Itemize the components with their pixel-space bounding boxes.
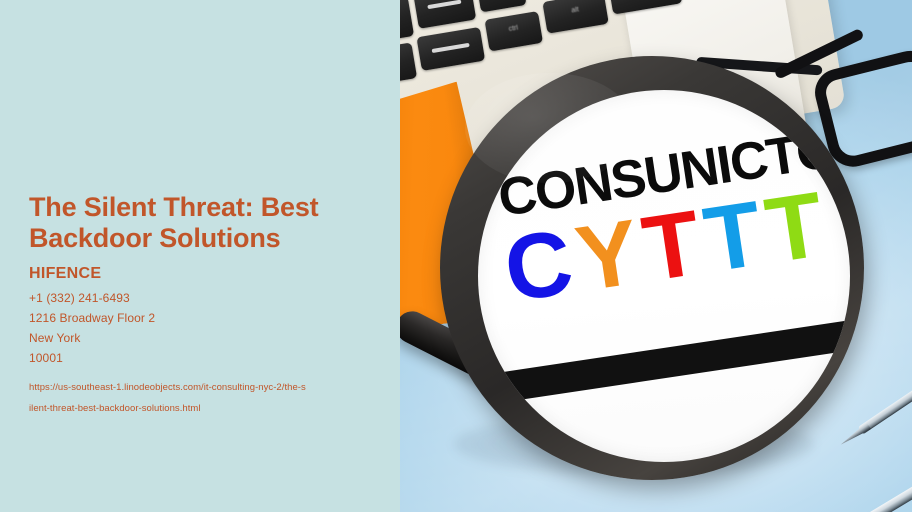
page-root: The Silent Threat: Best Backdoor Solutio… xyxy=(0,0,912,512)
company-name: HIFENCE xyxy=(29,264,374,284)
address-zip: 10001 xyxy=(29,348,374,368)
article-info-panel: The Silent Threat: Best Backdoor Solutio… xyxy=(0,0,400,512)
keyboard-key xyxy=(413,0,476,29)
magnifying-glass-icon: CONSUNICTON CYTTT xyxy=(428,48,896,512)
article-url-line-2[interactable]: ilent-threat-best-backdoor-solutions.htm… xyxy=(29,398,374,419)
magnifier-ring: CONSUNICTON CYTTT xyxy=(440,56,864,480)
text-block: The Silent Threat: Best Backdoor Solutio… xyxy=(29,192,374,419)
address-street: 1216 Broadway Floor 2 xyxy=(29,308,374,328)
lens-black-bar xyxy=(478,311,850,412)
keyboard-key: ctrl xyxy=(485,11,544,51)
keyboard-key xyxy=(400,42,417,85)
address-city: New York xyxy=(29,328,374,348)
article-url[interactable]: https://us-southeast-1.linodeobjects.com… xyxy=(29,377,374,419)
keyboard-key xyxy=(608,0,682,15)
lens-letter: C xyxy=(499,213,585,319)
keyboard-key xyxy=(400,0,414,45)
lens-letter: T xyxy=(760,175,836,279)
article-url-line-1[interactable]: https://us-southeast-1.linodeobjects.com… xyxy=(29,377,374,398)
keyboard-key: alt xyxy=(542,0,608,34)
lens-content: CONSUNICTON CYTTT xyxy=(478,114,850,325)
phone-number[interactable]: +1 (332) 241-6493 xyxy=(29,288,374,308)
keyboard-key xyxy=(475,0,527,12)
magnifier-lens: CONSUNICTON CYTTT xyxy=(478,90,850,462)
hero-photo: esc ctrl alt xyxy=(400,0,912,512)
page-title: The Silent Threat: Best Backdoor Solutio… xyxy=(29,192,374,254)
